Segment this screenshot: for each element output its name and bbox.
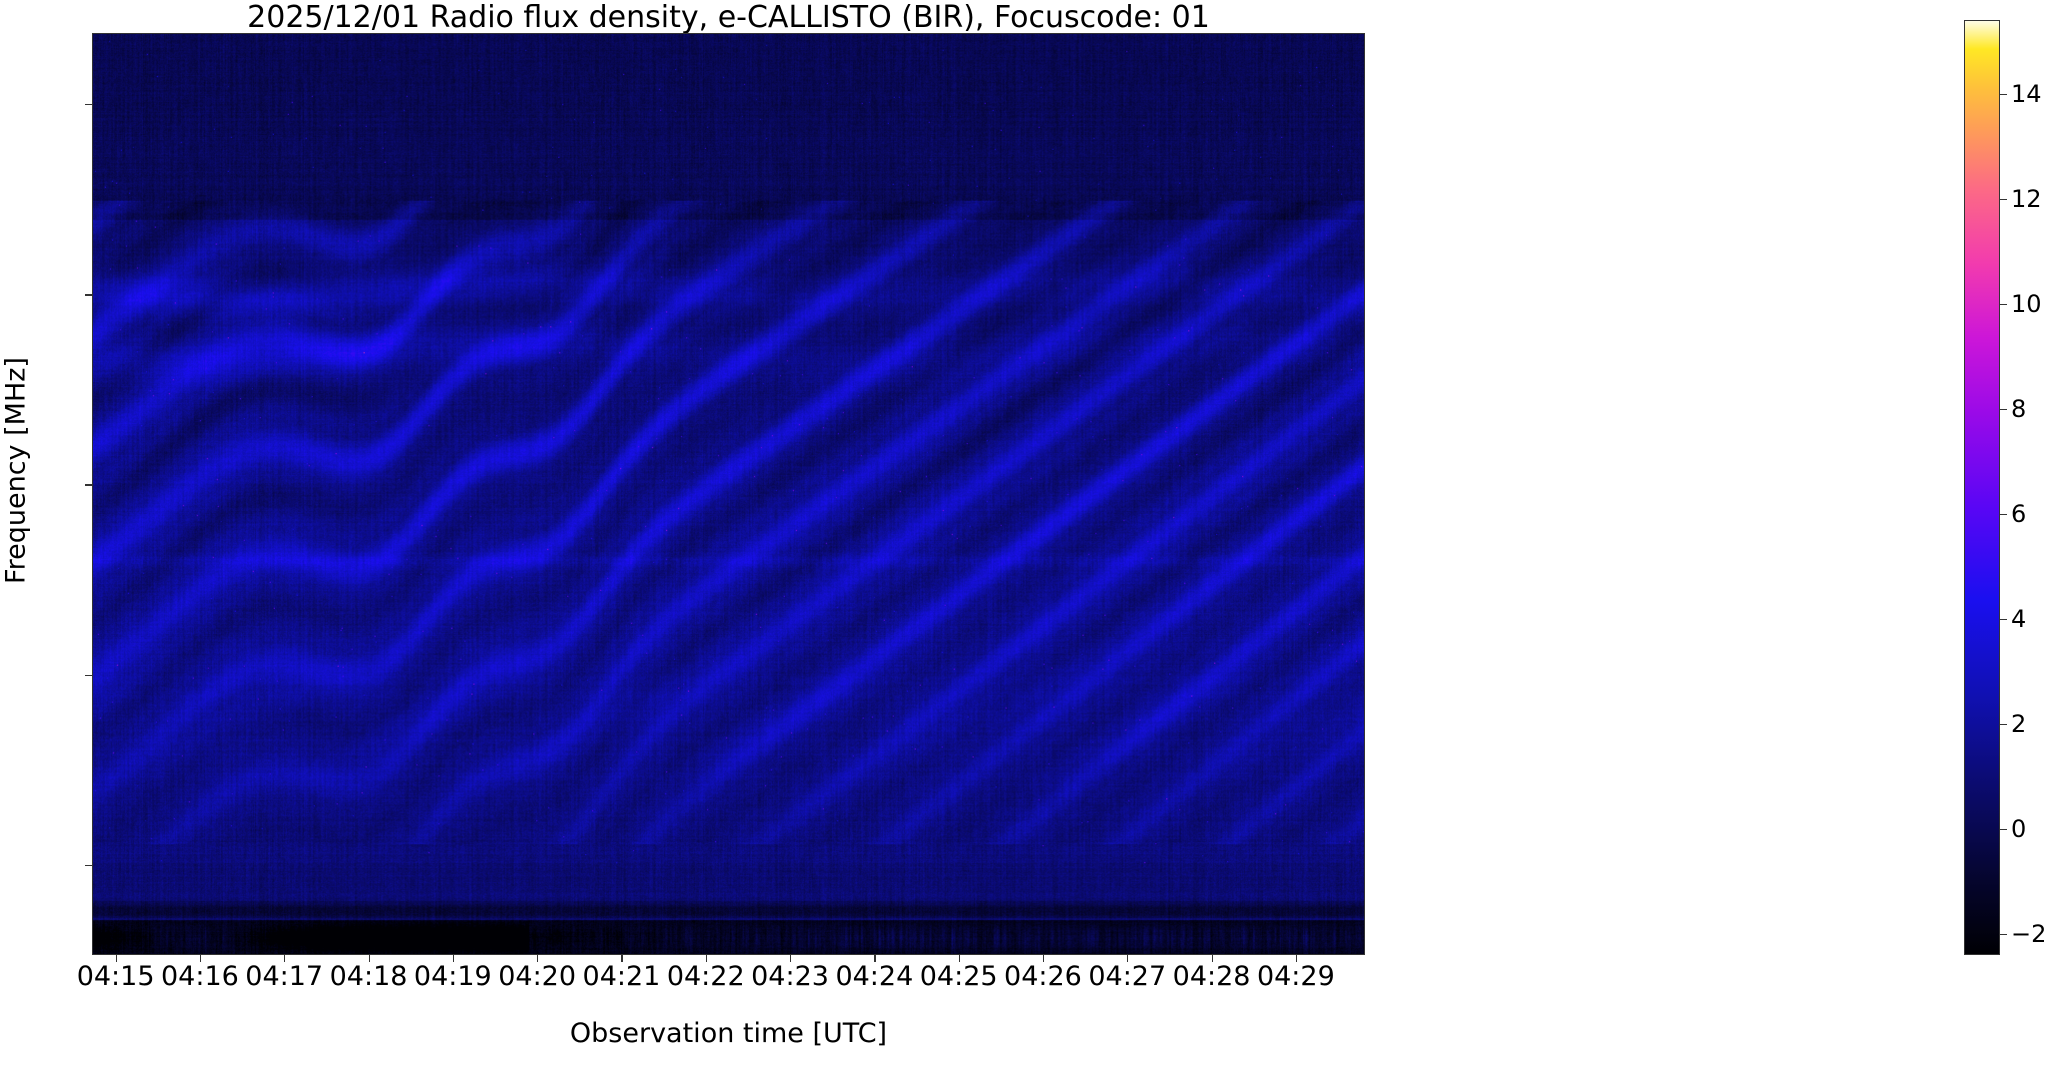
- colorbar-tick-mark: [2000, 829, 2007, 830]
- spectrogram-axes[interactable]: [92, 33, 1365, 955]
- x-axis-tick-mark: [874, 955, 875, 962]
- colorbar[interactable]: [1964, 20, 2000, 955]
- x-axis-tick-mark: [369, 955, 370, 962]
- y-axis-tick-mark: [85, 294, 92, 295]
- colorbar-tick-label: −2: [2011, 922, 2066, 946]
- colorbar-tick-mark: [2000, 724, 2007, 725]
- y-axis-tick-mark: [85, 484, 92, 485]
- colorbar-tick-mark: [2000, 304, 2007, 305]
- colorbar-tick-mark: [2000, 94, 2007, 95]
- x-axis-tick-mark: [959, 955, 960, 962]
- y-axis-tick-mark: [85, 865, 92, 866]
- colorbar-tick-label: 12: [2011, 187, 2066, 211]
- x-axis-tick-mark: [621, 955, 622, 962]
- spectrogram-heatmap: [93, 34, 1364, 954]
- x-axis-tick-mark: [453, 955, 454, 962]
- colorbar-tick-label: 10: [2011, 292, 2066, 316]
- x-axis-tick-mark: [116, 955, 117, 962]
- colorbar-tick-label: 0: [2011, 817, 2066, 841]
- x-axis-tick-mark: [1296, 955, 1297, 962]
- x-axis-tick-mark: [1212, 955, 1213, 962]
- colorbar-tick-mark: [2000, 619, 2007, 620]
- figure-canvas: 2025/12/01 Radio flux density, e-CALLIST…: [0, 0, 2066, 1067]
- x-axis-label: Observation time [UTC]: [92, 1018, 1365, 1049]
- colorbar-gradient: [1965, 21, 1999, 954]
- colorbar-tick-mark: [2000, 409, 2007, 410]
- x-axis-tick-mark: [1127, 955, 1128, 962]
- spectrogram-pixels: [93, 34, 1364, 954]
- y-axis-tick-mark: [85, 104, 92, 105]
- y-axis-label: Frequency [MHz]: [1, 10, 32, 932]
- colorbar-tick-mark: [2000, 934, 2007, 935]
- x-axis-tick-label: 04:29: [1216, 962, 1376, 991]
- x-axis-tick-mark: [200, 955, 201, 962]
- colorbar-tick-label: 14: [2011, 82, 2066, 106]
- page-title: 2025/12/01 Radio flux density, e-CALLIST…: [92, 2, 1365, 34]
- colorbar-tick-mark: [2000, 199, 2007, 200]
- x-axis-tick-mark: [284, 955, 285, 962]
- x-axis-tick-mark: [790, 955, 791, 962]
- colorbar-tick-label: 4: [2011, 607, 2066, 631]
- x-axis-tick-mark: [537, 955, 538, 962]
- colorbar-tick-label: 2: [2011, 712, 2066, 736]
- y-axis-tick-mark: [85, 675, 92, 676]
- x-axis-tick-mark: [706, 955, 707, 962]
- colorbar-tick-label: 6: [2011, 502, 2066, 526]
- colorbar-tick-label: 8: [2011, 397, 2066, 421]
- colorbar-tick-mark: [2000, 514, 2007, 515]
- x-axis-tick-mark: [1043, 955, 1044, 962]
